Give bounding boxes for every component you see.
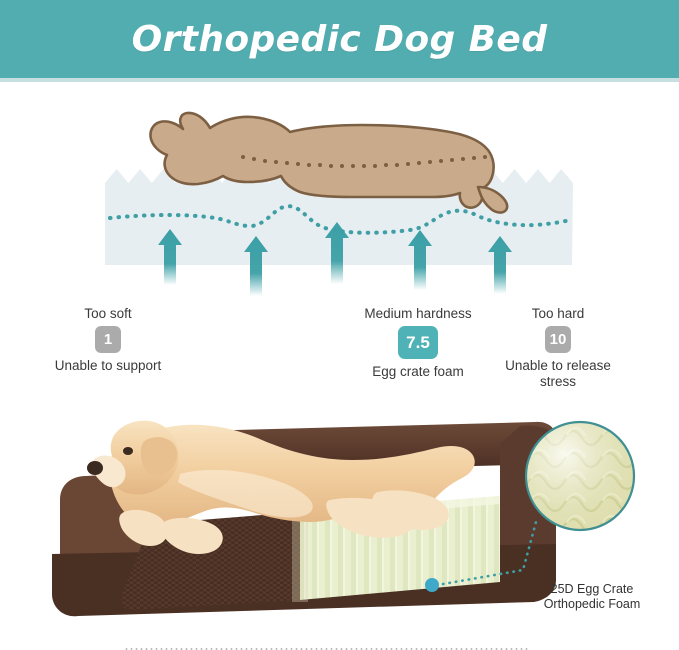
header-banner: Orthopedic Dog Bed [0,0,679,78]
scale-node-medium-hardness[interactable]: Medium hardness 7.5 Egg crate foam [358,306,478,380]
callout-label: 25D Egg Crate Orthopedic Foam [512,582,672,612]
page-title: Orthopedic Dog Bed [132,19,548,60]
foam-diagram-svg [0,84,679,300]
scale-top-label: Medium hardness [358,306,478,321]
scale-node-too-hard[interactable]: Too hard 10 Unable to release stress [498,306,618,390]
scale-top-label: Too soft [48,306,168,321]
header-underline [0,78,679,82]
scale-bottom-label: Unable to support [48,358,168,374]
callout-label-line1: 25D Egg Crate [512,582,672,597]
scale-top-label: Too hard [498,306,618,321]
scale-badge-value: 7.5 [398,326,438,359]
scale-bottom-label: Unable to release stress [498,358,618,390]
foam-magnifier-inset [526,422,636,533]
scale-badge-value: 1 [95,326,121,353]
callout-label-line2: Orthopedic Foam [512,597,672,612]
scale-badge-value: 10 [545,326,571,353]
firmness-scale: Too soft 1 Unable to support Medium hard… [0,300,679,400]
pressure-support-diagram [0,84,679,300]
callout-dot[interactable] [425,578,439,592]
scale-node-too-soft[interactable]: Too soft 1 Unable to support [48,306,168,374]
scale-bottom-label: Egg crate foam [358,364,478,380]
